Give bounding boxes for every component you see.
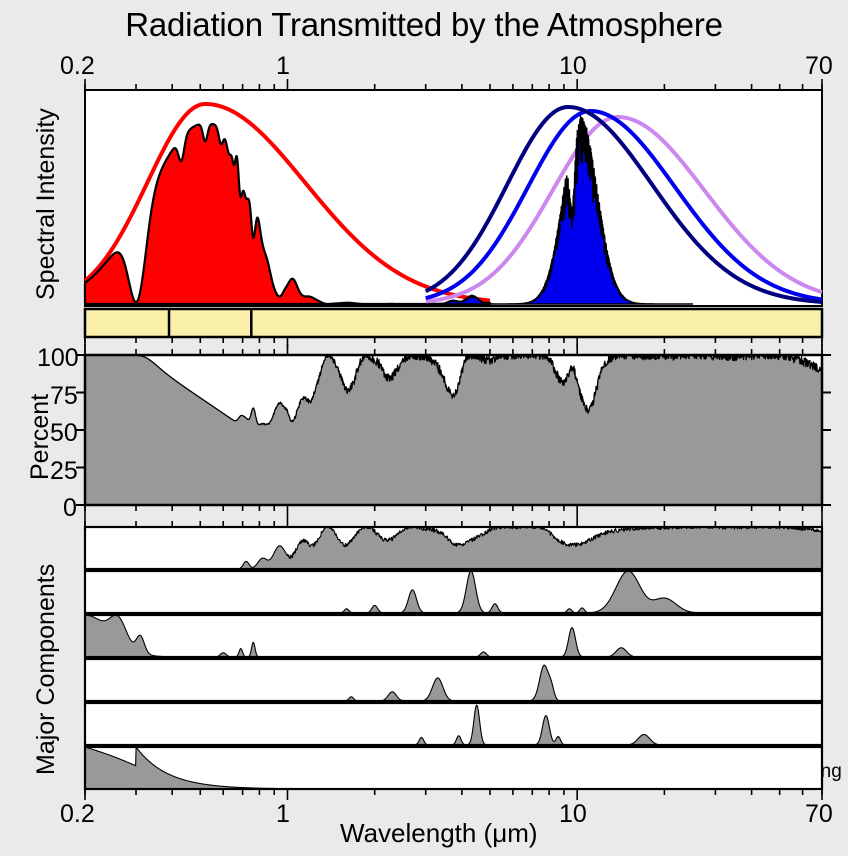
plot-canvas — [0, 0, 848, 856]
radiation-transmission-figure: Radiation Transmitted by the Atmosphere … — [0, 0, 848, 856]
